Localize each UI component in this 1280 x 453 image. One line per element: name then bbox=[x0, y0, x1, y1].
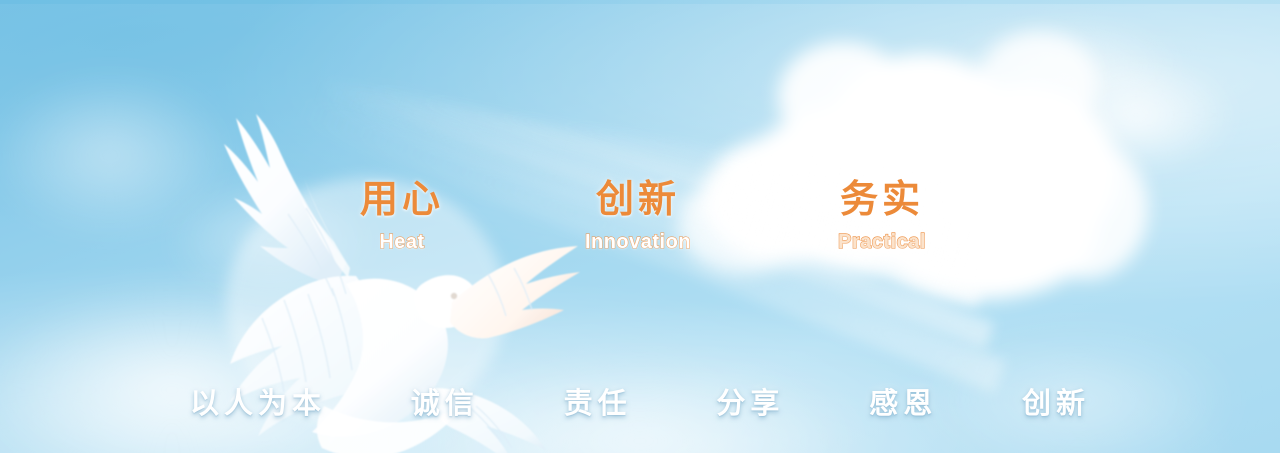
pillar-cn-label: 创新 bbox=[528, 176, 748, 222]
core-value-item: 责任 bbox=[564, 384, 632, 422]
value-pillar-innovation: 创新 Innovation bbox=[528, 176, 748, 254]
pillar-cn-label: 用心 bbox=[292, 176, 512, 222]
culture-banner: 用心 Heat 创新 Innovation 务实 Practical 以人为本 … bbox=[0, 0, 1280, 453]
core-value-item: 感恩 bbox=[869, 384, 937, 422]
pillar-cn-label: 务实 bbox=[772, 176, 992, 222]
value-pillar-heat: 用心 Heat bbox=[292, 176, 512, 254]
core-value-item: 创新 bbox=[1022, 384, 1090, 422]
core-values-row: 以人为本 诚信 责任 分享 感恩 创新 bbox=[190, 384, 1090, 422]
core-value-item: 分享 bbox=[716, 384, 784, 422]
value-pillar-practical: 务实 Practical bbox=[772, 176, 992, 254]
core-value-item: 诚信 bbox=[411, 384, 479, 422]
core-value-item: 以人为本 bbox=[190, 384, 326, 422]
pillar-en-label: Innovation bbox=[528, 230, 748, 254]
pillar-en-label: Practical bbox=[772, 230, 992, 254]
pillar-en-label: Heat bbox=[292, 230, 512, 254]
